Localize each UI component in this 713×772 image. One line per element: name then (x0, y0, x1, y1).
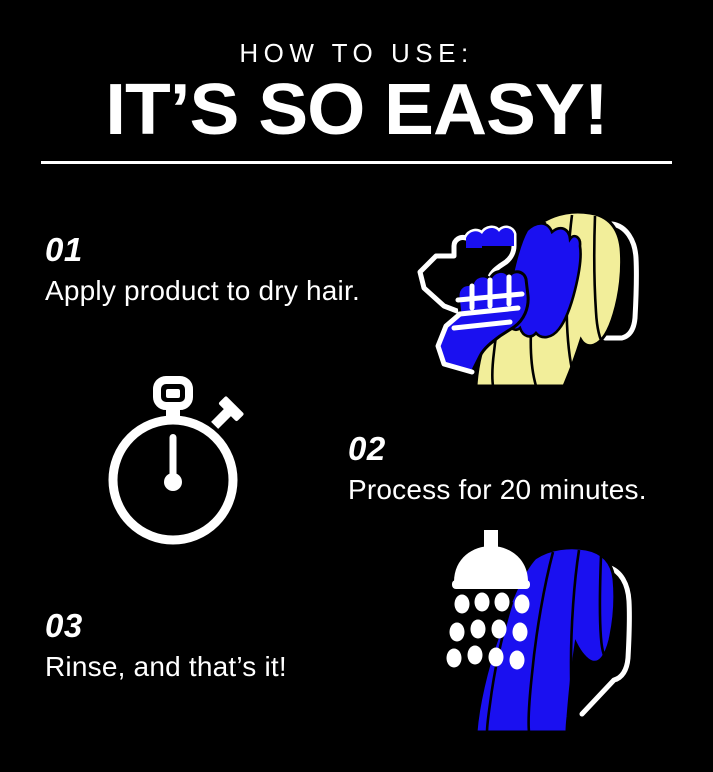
header-divider (41, 161, 672, 164)
kicker-text: HOW TO USE: (0, 40, 713, 66)
header: HOW TO USE: IT’S SO EASY! (0, 0, 713, 144)
step-03: 03 Rinse, and that’s it! (45, 609, 287, 683)
step-02-number: 02 (348, 432, 647, 465)
step-02-text: Process for 20 minutes. (348, 474, 647, 506)
shower-rinse-icon (440, 522, 713, 732)
page-title: IT’S SO EASY! (0, 76, 713, 144)
step-01-number: 01 (45, 233, 360, 266)
step-02: 02 Process for 20 minutes. (348, 432, 647, 506)
stopwatch-icon (95, 372, 271, 548)
step-03-text: Rinse, and that’s it! (45, 651, 287, 683)
step-01: 01 Apply product to dry hair. (45, 233, 360, 307)
hands-applying-product-icon (414, 196, 713, 386)
step-03-number: 03 (45, 609, 287, 642)
how-to-use-infographic: HOW TO USE: IT’S SO EASY! 01 Apply produ… (0, 0, 713, 772)
step-01-text: Apply product to dry hair. (45, 275, 360, 307)
